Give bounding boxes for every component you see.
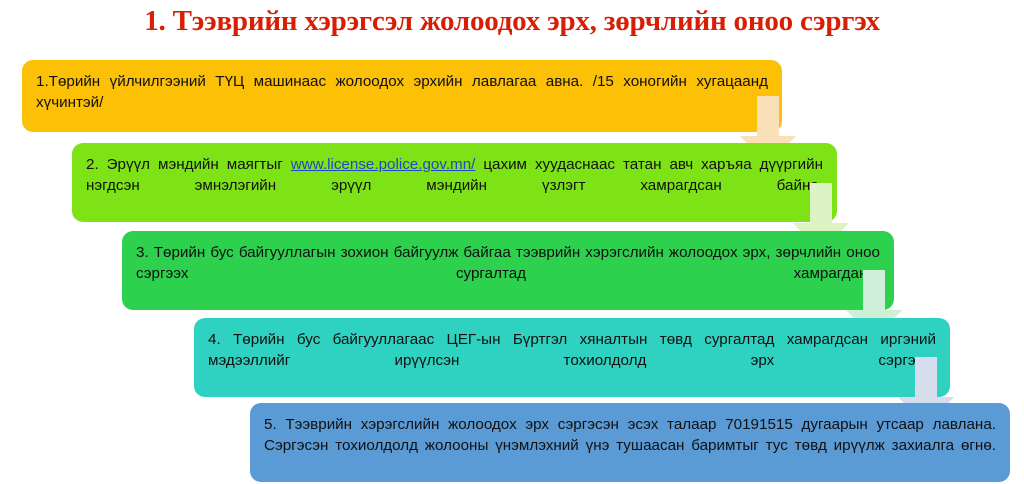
step-box-4: 4. Төрийн бус байгууллагаас ЦЕГ-ын Бүртг…	[194, 318, 950, 397]
step-1-text: 1.Төрийн үйлчилгээний ТҮЦ машинаас жолоо…	[22, 60, 782, 132]
slide-canvas: 1. Тээврийн хэрэгсэл жолоодох эрх, зөрчл…	[0, 0, 1024, 484]
step-2-text-before-link: 2. Эрүүл мэндийн маягтыг	[86, 156, 291, 173]
step-4-text: 4. Төрийн бус байгууллагаас ЦЕГ-ын Бүртг…	[194, 318, 950, 397]
license-police-link[interactable]: www.license.police.gov.mn/	[291, 156, 476, 173]
step-box-2: 2. Эрүүл мэндийн маягтыг www.license.pol…	[72, 143, 837, 222]
step-box-3: 3. Төрийн бус байгууллагын зохион байгуу…	[122, 231, 894, 310]
step-3-text: 3. Төрийн бус байгууллагын зохион байгуу…	[122, 231, 894, 310]
step-5-text: 5. Тээврийн хэрэгслийн жолоодох эрх сэрг…	[250, 403, 1010, 482]
page-title: 1. Тээврийн хэрэгсэл жолоодох эрх, зөрчл…	[0, 2, 1024, 40]
step-box-1: 1.Төрийн үйлчилгээний ТҮЦ машинаас жолоо…	[22, 60, 782, 132]
step-box-5: 5. Тээврийн хэрэгслийн жолоодох эрх сэрг…	[250, 403, 1010, 482]
step-2-text: 2. Эрүүл мэндийн маягтыг www.license.pol…	[72, 143, 837, 222]
